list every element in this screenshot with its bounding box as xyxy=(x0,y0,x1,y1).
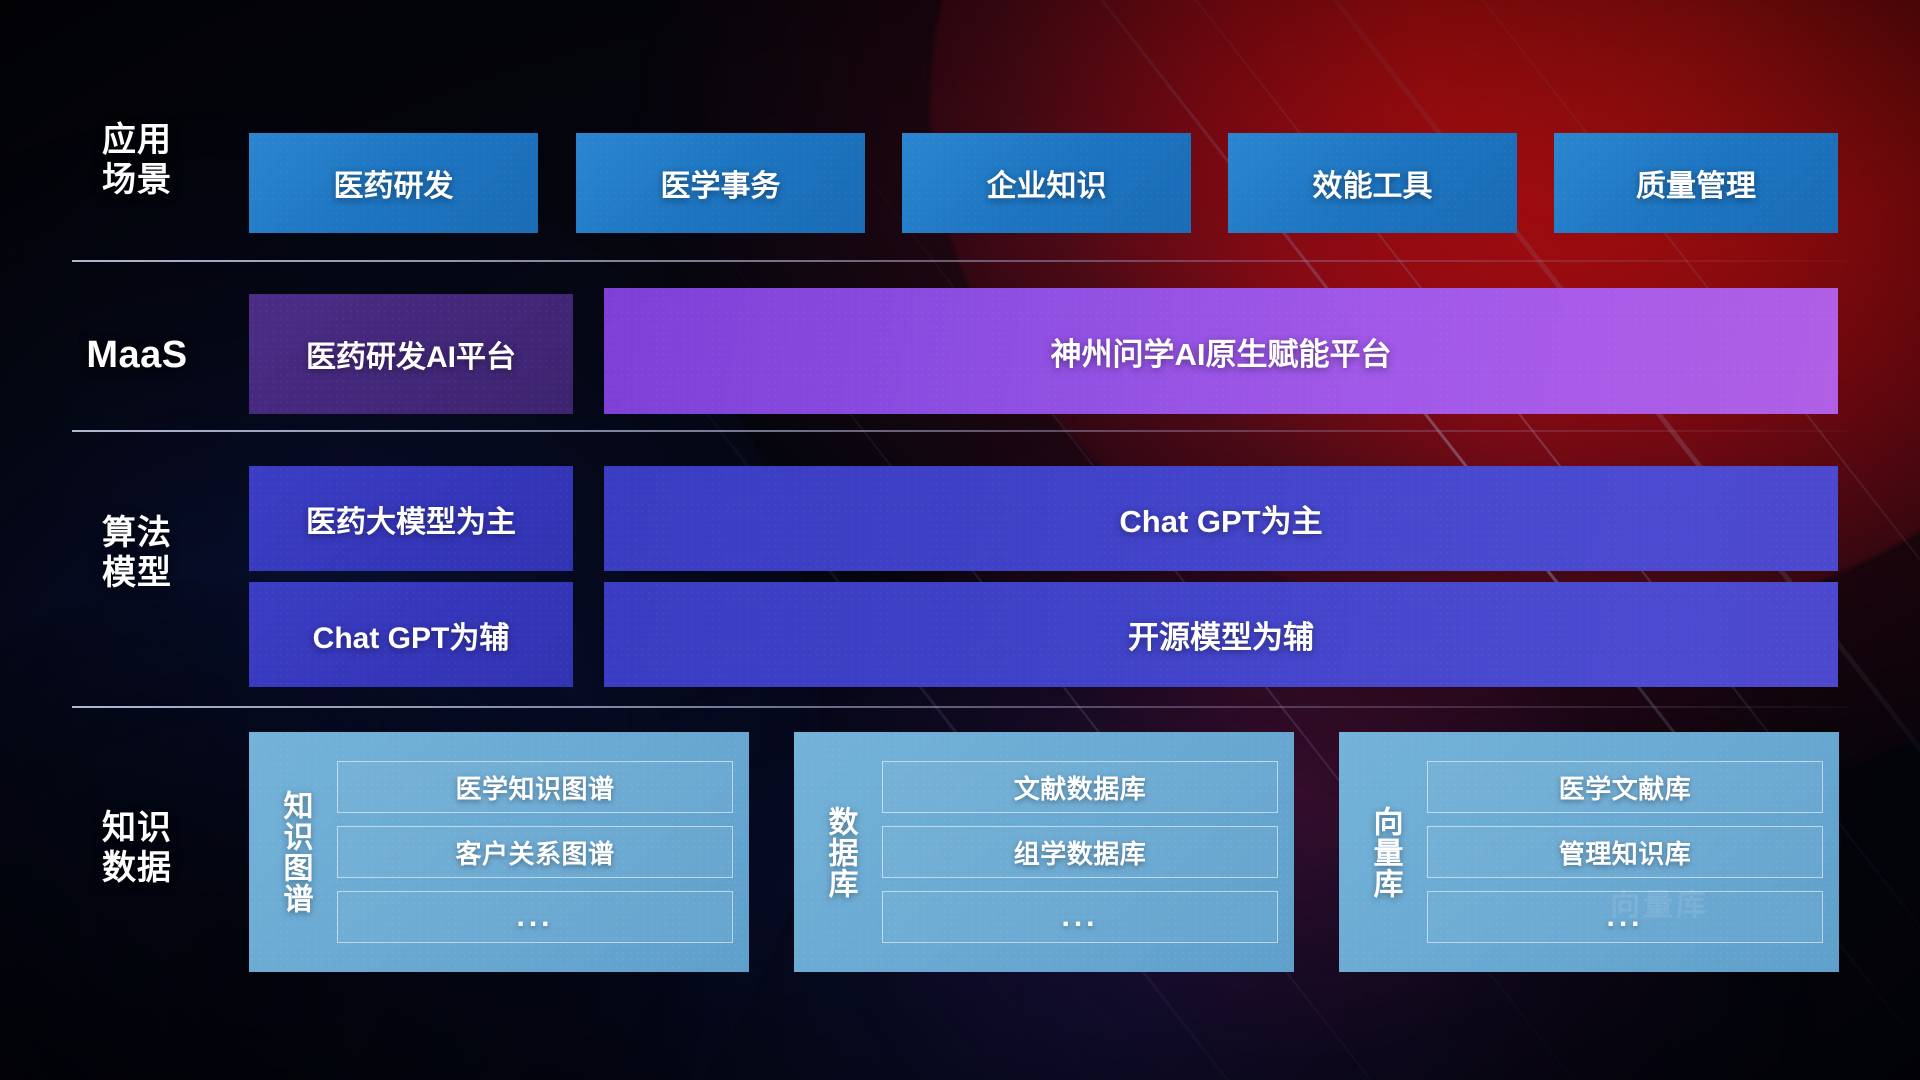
app-box-quality-management[interactable]: 质量管理 xyxy=(1554,133,1838,233)
divider-after-application-scenarios xyxy=(72,260,1848,262)
knowledge-group-knowledge-graph[interactable]: 知识图谱 医学知识图谱 客户关系图谱 ... xyxy=(249,732,749,972)
knowledge-item-list: 医学知识图谱 客户关系图谱 ... xyxy=(337,761,733,943)
knowledge-group-title: 知识图谱 xyxy=(267,790,323,914)
app-box-efficiency-tools[interactable]: 效能工具 xyxy=(1228,133,1517,233)
knowledge-item-more[interactable]: ... xyxy=(337,891,733,943)
knowledge-item-more[interactable]: ... xyxy=(1427,891,1823,943)
algo-box-opensource-secondary[interactable]: 开源模型为辅 xyxy=(604,582,1838,687)
row-label-algorithm-models: 算法 模型 xyxy=(72,513,202,593)
app-box-medical-affairs[interactable]: 医学事务 xyxy=(576,133,865,233)
app-box-enterprise-knowledge[interactable]: 企业知识 xyxy=(902,133,1191,233)
row-label-line: 数据 xyxy=(72,848,202,888)
algo-box-chatgpt-secondary[interactable]: Chat GPT为辅 xyxy=(249,582,573,687)
divider-after-maas xyxy=(72,430,1848,432)
knowledge-item-list: 医学文献库 管理知识库 ... xyxy=(1427,761,1823,943)
knowledge-item[interactable]: 医学文献库 xyxy=(1427,761,1823,813)
row-label-knowledge-data: 知识 数据 xyxy=(72,808,202,888)
row-label-line: 知识 xyxy=(72,808,202,848)
knowledge-item[interactable]: 组学数据库 xyxy=(882,826,1278,878)
algo-box-medical-llm-primary[interactable]: 医药大模型为主 xyxy=(249,466,573,571)
knowledge-group-vector-store[interactable]: 向量库 医学文献库 管理知识库 ... xyxy=(1339,732,1839,972)
maas-box-drug-rd-ai-platform[interactable]: 医药研发AI平台 xyxy=(249,294,573,414)
row-label-line: 算法 xyxy=(72,513,202,553)
row-label-maas: MaaS xyxy=(72,333,202,378)
knowledge-item[interactable]: 文献数据库 xyxy=(882,761,1278,813)
app-box-drug-rd[interactable]: 医药研发 xyxy=(249,133,538,233)
knowledge-item[interactable]: 客户关系图谱 xyxy=(337,826,733,878)
knowledge-item[interactable]: 医学知识图谱 xyxy=(337,761,733,813)
knowledge-group-database[interactable]: 数据库 文献数据库 组学数据库 ... xyxy=(794,732,1294,972)
row-label-line: 场景 xyxy=(72,160,202,200)
maas-box-shenzhou-wenxue-platform[interactable]: 神州问学AI原生赋能平台 xyxy=(604,288,1838,414)
knowledge-item-more[interactable]: ... xyxy=(882,891,1278,943)
knowledge-group-title: 数据库 xyxy=(812,806,868,899)
knowledge-group-title: 向量库 xyxy=(1357,806,1413,899)
row-label-line: MaaS xyxy=(72,333,202,378)
row-label-line: 模型 xyxy=(72,553,202,593)
row-label-application-scenarios: 应用 场景 xyxy=(72,120,202,200)
knowledge-item[interactable]: 管理知识库 xyxy=(1427,826,1823,878)
divider-after-algorithm-models xyxy=(72,706,1848,708)
algo-box-chatgpt-primary[interactable]: Chat GPT为主 xyxy=(604,466,1838,571)
architecture-diagram: 应用 场景 医药研发 医学事务 企业知识 效能工具 质量管理 MaaS 医药研发… xyxy=(0,0,1920,1080)
row-label-line: 应用 xyxy=(72,120,202,160)
knowledge-item-list: 文献数据库 组学数据库 ... xyxy=(882,761,1278,943)
